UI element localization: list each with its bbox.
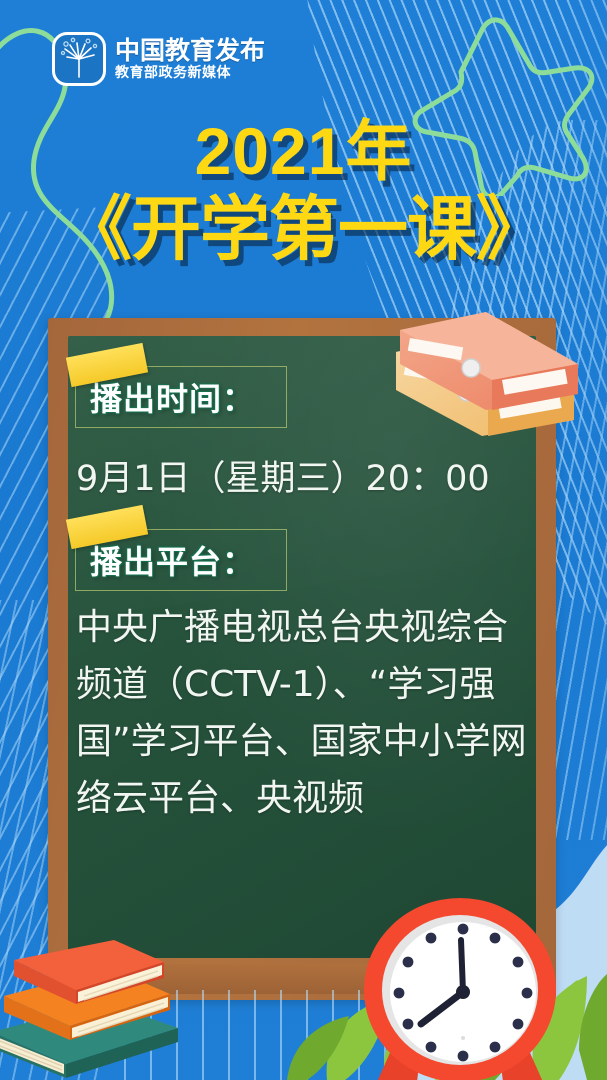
broadcast-platform-label: 播出平台： xyxy=(90,537,255,583)
headline-title: 《开学第一课》 xyxy=(0,190,607,268)
logo-text-block: 中国教育发布 教育部政务新媒体 xyxy=(115,38,265,80)
headline-year: 2021年 xyxy=(0,118,607,184)
broadcast-platform-value: 中央广播电视总台央视综合频道（CCTV-1）、“学习强国”学习平台、国家中小学网… xyxy=(76,600,531,828)
broadcast-time-label: 播出时间： xyxy=(90,374,255,420)
book-stack-icon xyxy=(0,940,182,1080)
poster-root: 中国教育发布 教育部政务新媒体 2021年 《开学第一课》 播出时间： 9月1日… xyxy=(0,0,607,1080)
brand-logo[interactable]: 中国教育发布 教育部政务新媒体 xyxy=(52,32,265,86)
dandelion-logo-mark xyxy=(52,32,106,86)
logo-subtitle: 教育部政务新媒体 xyxy=(115,65,265,80)
logo-main-title: 中国教育发布 xyxy=(115,38,265,64)
alarm-clock-icon xyxy=(355,898,565,1080)
headline-block: 2021年 《开学第一课》 xyxy=(0,118,607,268)
binder-folders-icon xyxy=(378,312,593,462)
